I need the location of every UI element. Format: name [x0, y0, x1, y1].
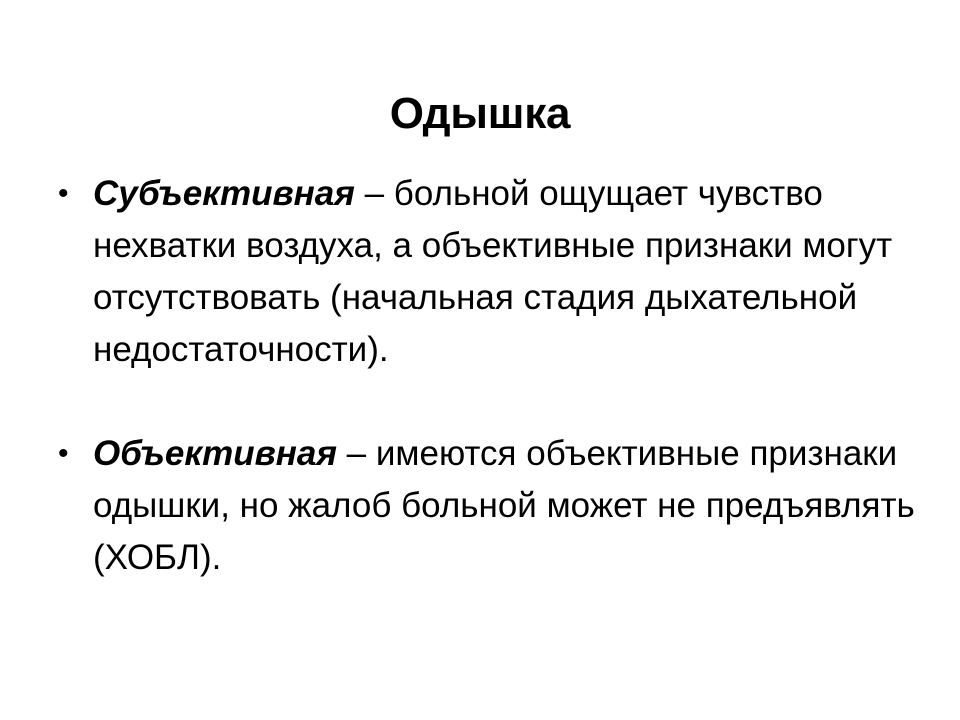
list-item: • Объективная – имеются объективные приз…: [48, 428, 920, 584]
list-item-text: Субъективная – больной ощущает чувство н…: [93, 168, 920, 376]
list-item-separator: –: [355, 174, 394, 213]
list-item-lead-term: Субъективная: [93, 174, 355, 213]
list-item-text: Объективная – имеются объективные призна…: [93, 428, 920, 584]
list-item: • Субъективная – больной ощущает чувство…: [48, 168, 920, 376]
bullet-list: • Субъективная – больной ощущает чувство…: [48, 168, 920, 584]
list-item-lead-term: Объективная: [93, 434, 337, 473]
bullet-point-icon: •: [58, 168, 80, 220]
slide-canvas: Одышка • Субъективная – больной ощущает …: [0, 0, 960, 720]
page-title: Одышка: [0, 87, 960, 141]
bullet-point-icon: •: [58, 428, 80, 480]
list-item-separator: –: [337, 434, 376, 473]
